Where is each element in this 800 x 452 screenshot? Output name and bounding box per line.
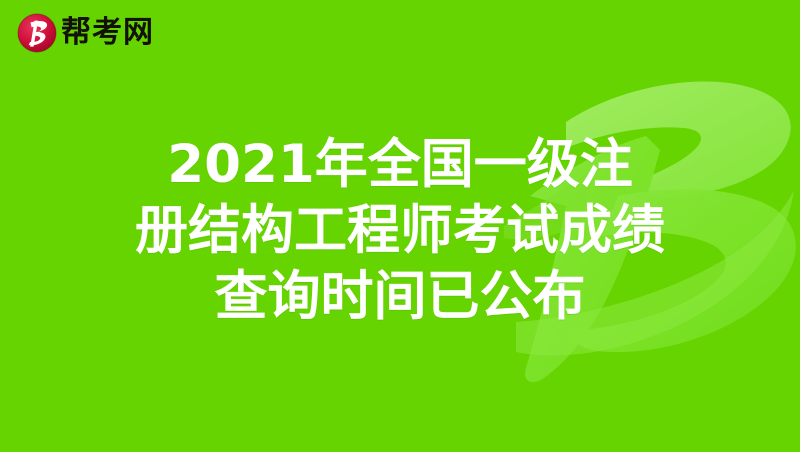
b-letter-badge-icon (17, 13, 57, 53)
headline-line-2: 册结构工程师考试成绩 (8, 198, 792, 264)
brand-logo[interactable]: 帮考网 (17, 11, 154, 55)
headline-line-1: 2021年全国一级注 (8, 132, 792, 198)
headline-line-3: 查询时间已公布 (8, 264, 792, 330)
promo-banner: 帮考网 2021年全国一级注 册结构工程师考试成绩 查询时间已公布 (0, 0, 800, 452)
brand-wordmark: 帮考网 (61, 13, 154, 53)
headline: 2021年全国一级注 册结构工程师考试成绩 查询时间已公布 (0, 132, 800, 330)
brand-wordmark-text: 帮考网 (61, 18, 154, 48)
